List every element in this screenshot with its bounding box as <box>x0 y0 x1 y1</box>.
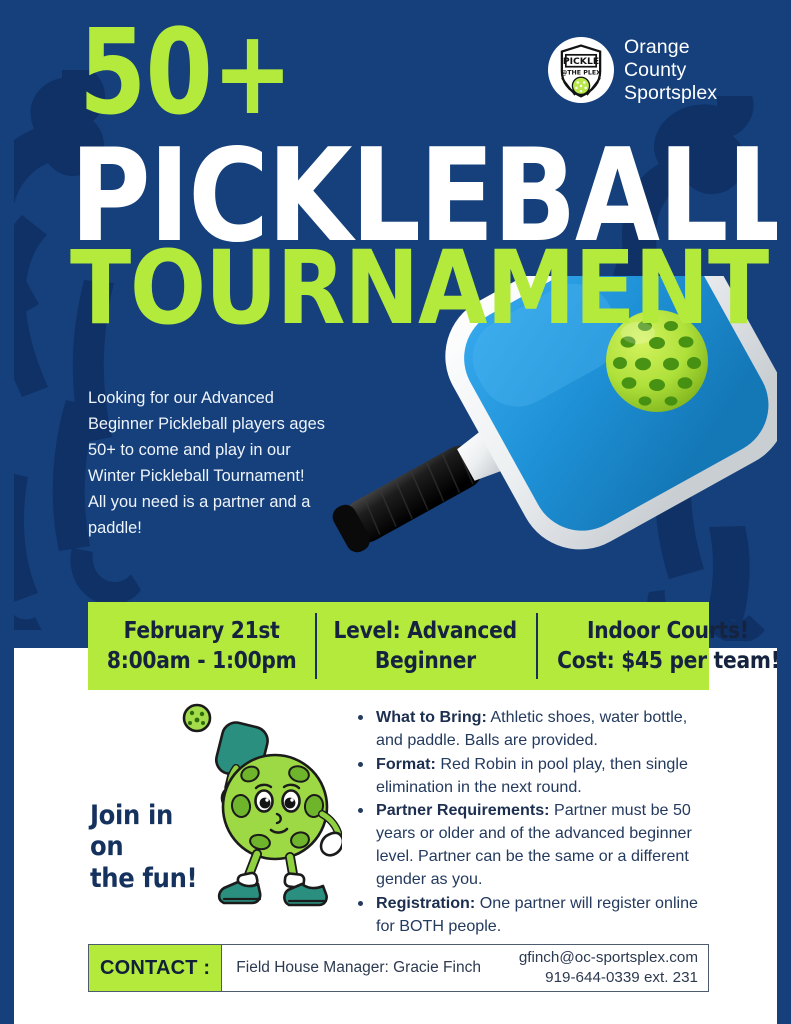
bullet-label-registration: Registration: <box>376 894 475 912</box>
org-logo: PICKLE @THE PLEX Orange County Sportsple… <box>548 36 717 104</box>
contact-body: Field House Manager: Gracie Finch gfinch… <box>222 945 708 991</box>
info-cell-venue-cost: Indoor Courts! Cost: $45 per team! <box>536 602 791 690</box>
hero-section: PICKLE @THE PLEX Orange County Sportsple… <box>0 0 791 648</box>
bullet-partner-requirements: Partner Requirements: Partner must be 50… <box>374 799 716 890</box>
details-bullet-list: What to Bring: Athletic shoes, water bot… <box>356 706 716 938</box>
svg-text:PICKLE: PICKLE <box>563 56 599 67</box>
flyer-page: PICKLE @THE PLEX Orange County Sportsple… <box>0 0 791 1024</box>
bullet-registration: Registration: One partner will register … <box>374 892 716 938</box>
bullet-label-format: Format: <box>376 755 436 773</box>
org-name: Orange County Sportsplex <box>624 36 717 104</box>
event-info-bar: February 21st 8:00am - 1:00pm Level: Adv… <box>88 602 709 690</box>
info-date-line2: 8:00am - 1:00pm <box>107 646 297 676</box>
bullet-what-to-bring: What to Bring: Athletic shoes, water bot… <box>374 706 716 752</box>
subtitle: TOURNAMENT <box>70 245 768 333</box>
mascot-block: Join in on the fun! <box>84 700 344 915</box>
description-text: Looking for our Advanced Beginner Pickle… <box>88 386 380 542</box>
bullet-label-partner-requirements: Partner Requirements: <box>376 801 550 819</box>
contact-email-phone: gfinch@oc-sportsplex.com 919-644-0339 ex… <box>519 948 698 988</box>
info-date-line1: February 21st <box>124 616 280 646</box>
info-venue-line1: Indoor Courts! <box>587 616 749 646</box>
bullet-label-what-to-bring: What to Bring: <box>376 708 487 726</box>
bullet-format: Format: Red Robin in pool play, then sin… <box>374 753 716 799</box>
right-border-rail <box>777 0 791 1024</box>
contact-bar: CONTACT : Field House Manager: Gracie Fi… <box>88 944 709 992</box>
info-level-line2: Beginner <box>375 646 476 676</box>
info-cell-level: Level: Advanced Beginner <box>315 602 535 690</box>
contact-person: Field House Manager: Gracie Finch <box>236 959 481 977</box>
info-level-line1: Level: Advanced <box>334 616 517 646</box>
info-cell-date: February 21st 8:00am - 1:00pm <box>88 602 315 690</box>
svg-text:@THE PLEX: @THE PLEX <box>561 69 601 77</box>
pickleball-mascot-character-icon <box>172 702 342 914</box>
info-cost-line2: Cost: $45 per team! <box>557 646 780 676</box>
age-headline: 50+ <box>79 22 292 123</box>
pickle-at-the-plex-shield-logo-icon: PICKLE @THE PLEX <box>548 37 614 103</box>
contact-label: CONTACT : <box>89 945 222 991</box>
left-border-rail <box>0 0 14 1024</box>
